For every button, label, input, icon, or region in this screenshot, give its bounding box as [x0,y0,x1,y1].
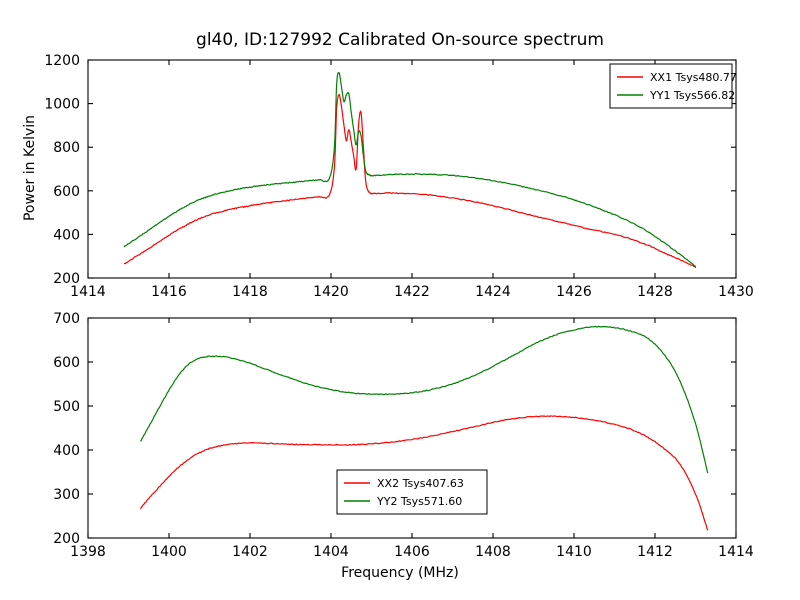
x-axis-label: Frequency (MHz) [0,565,800,581]
x-tick-label: 1410 [556,544,592,560]
y-tick-label: 600 [53,184,80,200]
legend-label: XX2 Tsys407.63 [377,477,464,490]
page-title: gl40, ID:127992 Calibrated On-source spe… [0,30,800,50]
x-tick-label: 1408 [475,544,511,560]
x-tick-label: 1420 [313,284,349,300]
legend-label: XX1 Tsys480.77 [650,71,737,84]
legend-label: YY2 Tsys571.60 [376,495,462,508]
x-tick-label: 1422 [394,284,430,300]
y-tick-label: 1200 [44,53,80,69]
y-tick-label: 700 [53,311,80,327]
x-tick-label: 1424 [475,284,511,300]
x-tick-label: 1412 [637,544,673,560]
legend-top[interactable]: XX1 Tsys480.77YY1 Tsys566.82 [610,64,737,108]
trace-xx1 [124,94,695,267]
trace-yy2 [141,326,708,472]
legend-label: YY1 Tsys566.82 [649,89,735,102]
x-tick-label: 1430 [718,284,754,300]
y-tick-label: 300 [53,487,80,503]
y-tick-label: 500 [53,399,80,415]
y-tick-label: 600 [53,355,80,371]
x-tick-label: 1400 [151,544,187,560]
y-tick-label: 800 [53,140,80,156]
y-axis-label: Power in Kelvin [22,108,38,228]
x-tick-label: 1406 [394,544,430,560]
x-tick-label: 1416 [151,284,187,300]
y-tick-label: 400 [53,443,80,459]
axes-bottom: 1398140014021404140614081410141214142003… [53,311,754,560]
figure-canvas: gl40, ID:127992 Calibrated On-source spe… [0,0,800,600]
x-tick-label: 1404 [313,544,349,560]
y-tick-label: 200 [53,271,80,287]
y-tick-label: 400 [53,227,80,243]
legend-bottom[interactable]: XX2 Tsys407.63YY2 Tsys571.60 [337,470,487,514]
x-tick-label: 1414 [718,544,754,560]
x-tick-label: 1426 [556,284,592,300]
y-tick-label: 1000 [44,97,80,113]
x-tick-label: 1402 [232,544,268,560]
x-tick-label: 1428 [637,284,673,300]
x-tick-label: 1418 [232,284,268,300]
spectrum-plot: 1414141614181420142214241426142814302004… [0,0,800,600]
y-tick-label: 200 [53,531,80,547]
